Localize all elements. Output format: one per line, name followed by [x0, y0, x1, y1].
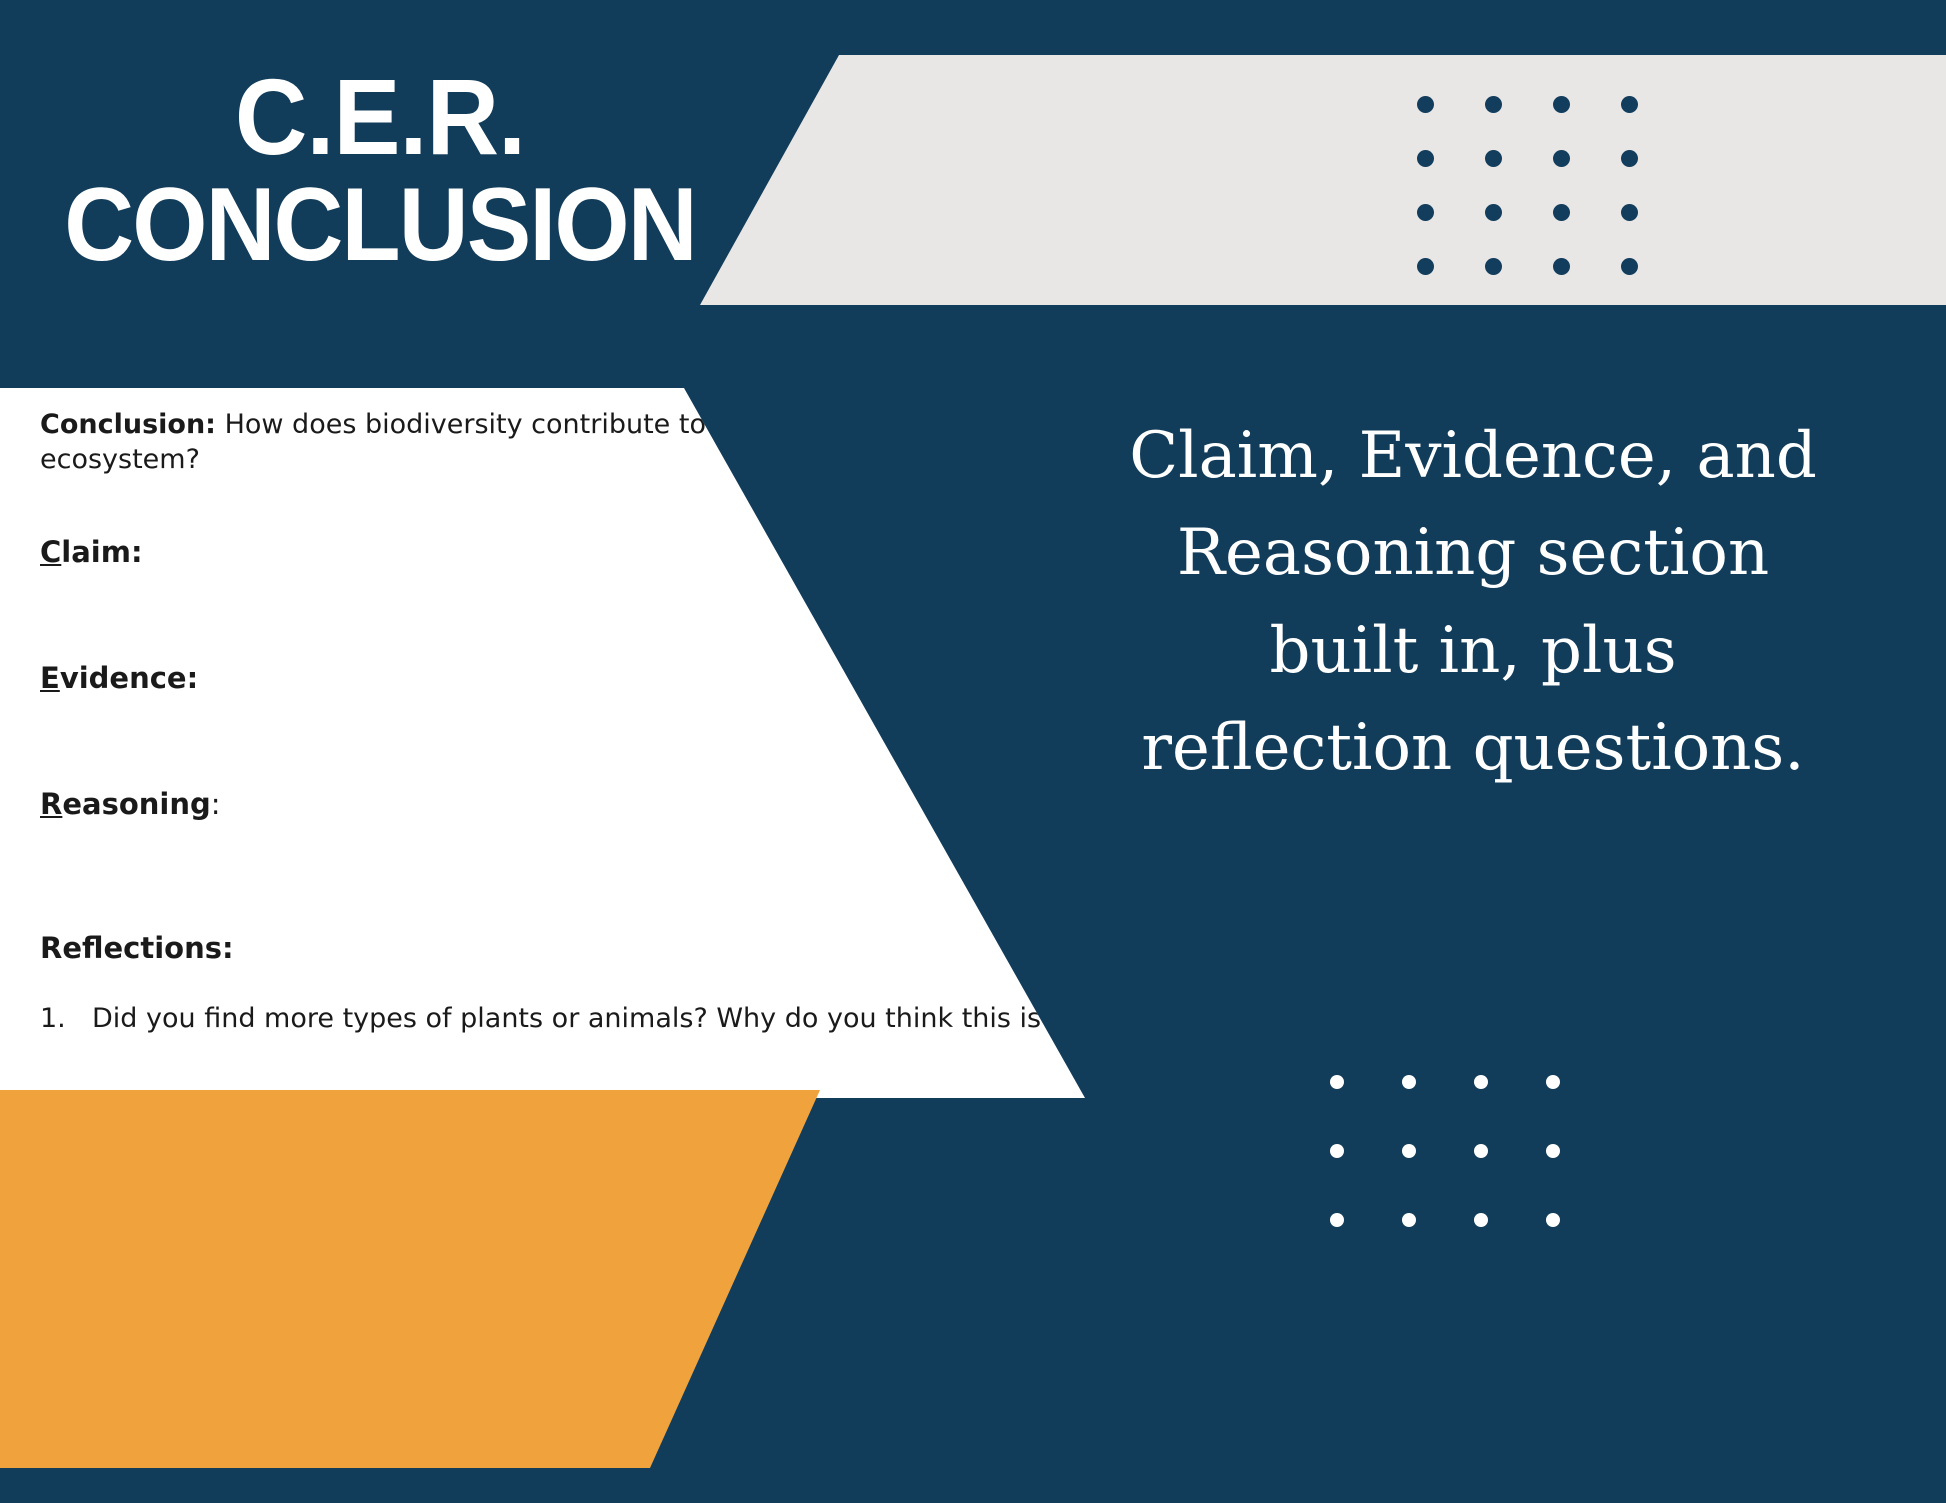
dot-icon [1621, 204, 1638, 221]
conclusion-question-line1: How does biodiversity contribute to [225, 409, 706, 440]
slide-title: C.E.R. CONCLUSION [0, 62, 760, 278]
dot-icon [1553, 258, 1570, 275]
conclusion-prompt: Conclusion: How does biodiversity contri… [40, 408, 1085, 477]
reflection-question-item: 1.Did you find more types of plants or a… [40, 1003, 1085, 1034]
dot-grid-bottom-right [1330, 1075, 1618, 1282]
slide-canvas: C.E.R. CONCLUSION Conclusion: How does b… [0, 0, 1946, 1503]
dot-icon [1546, 1144, 1560, 1158]
dot-icon [1553, 96, 1570, 113]
dot-icon [1474, 1213, 1488, 1227]
reflections-heading: Reflections: [40, 931, 1085, 965]
dot-icon [1621, 96, 1638, 113]
dot-icon [1553, 204, 1570, 221]
dot-icon [1402, 1075, 1416, 1089]
conclusion-question-line2: ecosystem? [40, 443, 1085, 478]
dot-icon [1417, 258, 1434, 275]
dot-icon [1417, 150, 1434, 167]
dot-icon [1402, 1144, 1416, 1158]
reasoning-heading-colon: : [211, 787, 221, 821]
slide-caption: Claim, Evidence, and Reasoning section b… [1128, 408, 1818, 797]
dot-icon [1330, 1075, 1344, 1089]
evidence-heading-rest: vidence: [60, 661, 198, 695]
claim-heading-rest: laim: [61, 535, 142, 569]
reasoning-heading-initial: R [40, 787, 62, 821]
header-banner-shape [700, 55, 1946, 305]
title-line-conclusion: CONCLUSION [27, 172, 734, 278]
worksheet-content: Conclusion: How does biodiversity contri… [40, 408, 1085, 1034]
dot-icon [1621, 258, 1638, 275]
reasoning-heading-rest: easoning [62, 787, 210, 821]
dot-icon [1485, 258, 1502, 275]
dot-icon [1546, 1213, 1560, 1227]
reflection-question-text: Did you find more types of plants or ani… [92, 1003, 1055, 1034]
dot-icon [1553, 150, 1570, 167]
dot-icon [1485, 204, 1502, 221]
dot-icon [1474, 1075, 1488, 1089]
dot-icon [1621, 150, 1638, 167]
reflections-heading-label: Reflections: [40, 931, 234, 965]
dot-icon [1417, 96, 1434, 113]
dot-icon [1485, 96, 1502, 113]
evidence-heading: Evidence: [40, 661, 1085, 695]
dot-icon [1330, 1144, 1344, 1158]
dot-icon [1474, 1144, 1488, 1158]
orange-accent-shape [0, 1090, 820, 1468]
claim-heading-initial: C [40, 535, 61, 569]
evidence-heading-initial: E [40, 661, 60, 695]
dot-icon [1485, 150, 1502, 167]
dot-icon [1330, 1213, 1344, 1227]
dot-icon [1417, 204, 1434, 221]
title-line-acronym: C.E.R. [27, 62, 734, 172]
dot-icon [1402, 1213, 1416, 1227]
conclusion-label: Conclusion: [40, 409, 216, 440]
worksheet-document-panel: Conclusion: How does biodiversity contri… [0, 388, 1085, 1098]
dot-grid-top-right [1417, 96, 1689, 312]
reasoning-heading: Reasoning: [40, 787, 1085, 821]
claim-heading: Claim: [40, 535, 1085, 569]
dot-icon [1546, 1075, 1560, 1089]
reflection-question-number: 1. [40, 1003, 92, 1034]
